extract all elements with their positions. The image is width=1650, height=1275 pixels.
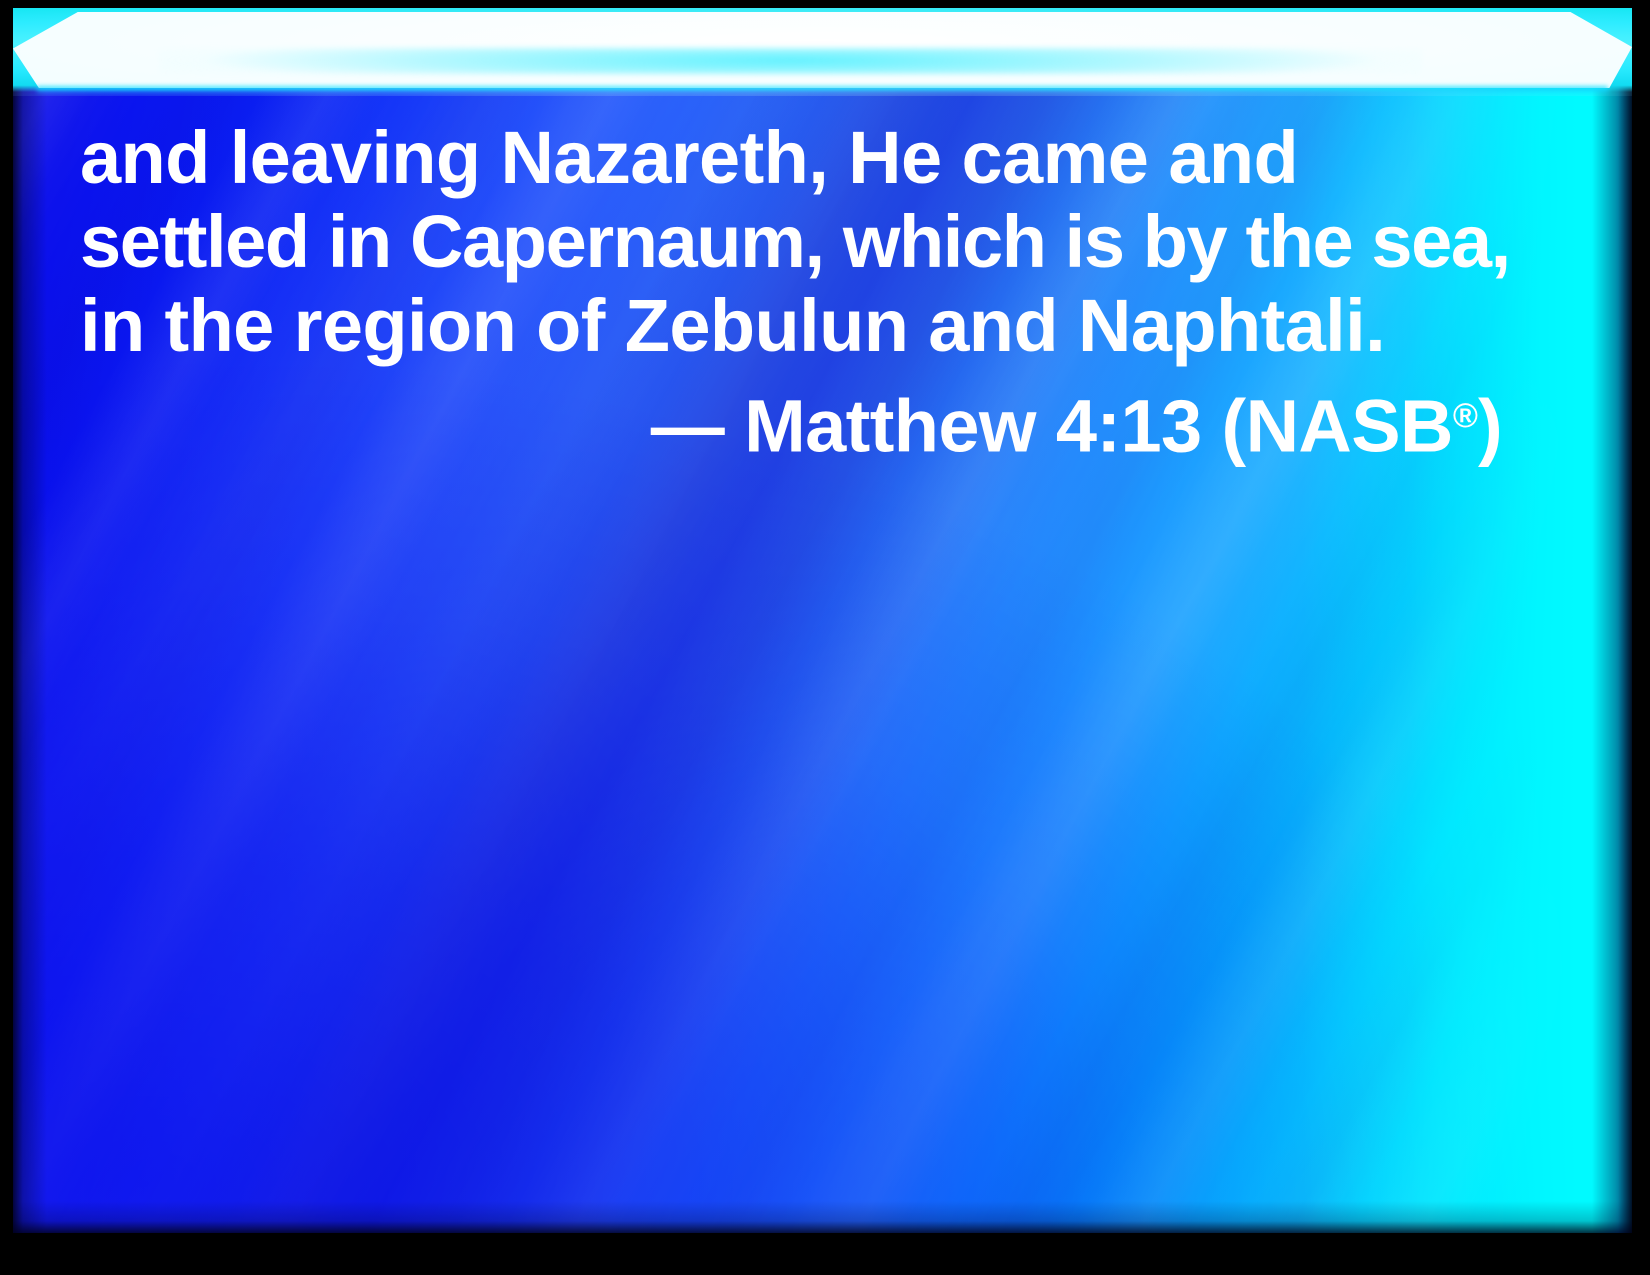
verse-line-2: settled in Capernaum, which is by the se… [80, 200, 1510, 284]
registered-trademark-icon: ® [1453, 397, 1478, 435]
attribution-reference: 4:13 [1056, 385, 1202, 468]
banner-bottom-cyan-line [37, 86, 1607, 94]
top-glow-banner [13, 8, 1632, 96]
verse-attribution: — Matthew 4:13 (NASB®) [80, 374, 1510, 469]
verse-slide: and leaving Nazareth, He came and settle… [0, 0, 1650, 1275]
attribution-translation-close: ) [1478, 385, 1502, 468]
verse-line-3: in the region of Zebulun and Naphtali. [80, 284, 1510, 368]
verse-line-1: and leaving Nazareth, He came and [80, 116, 1510, 200]
attribution-book: Matthew [744, 385, 1036, 468]
attribution-dash: — [651, 385, 724, 468]
banner-inner-cyan-streak [159, 48, 1422, 74]
verse-text-block: and leaving Nazareth, He came and settle… [80, 116, 1510, 469]
attribution-translation-open: (NASB [1222, 385, 1453, 468]
